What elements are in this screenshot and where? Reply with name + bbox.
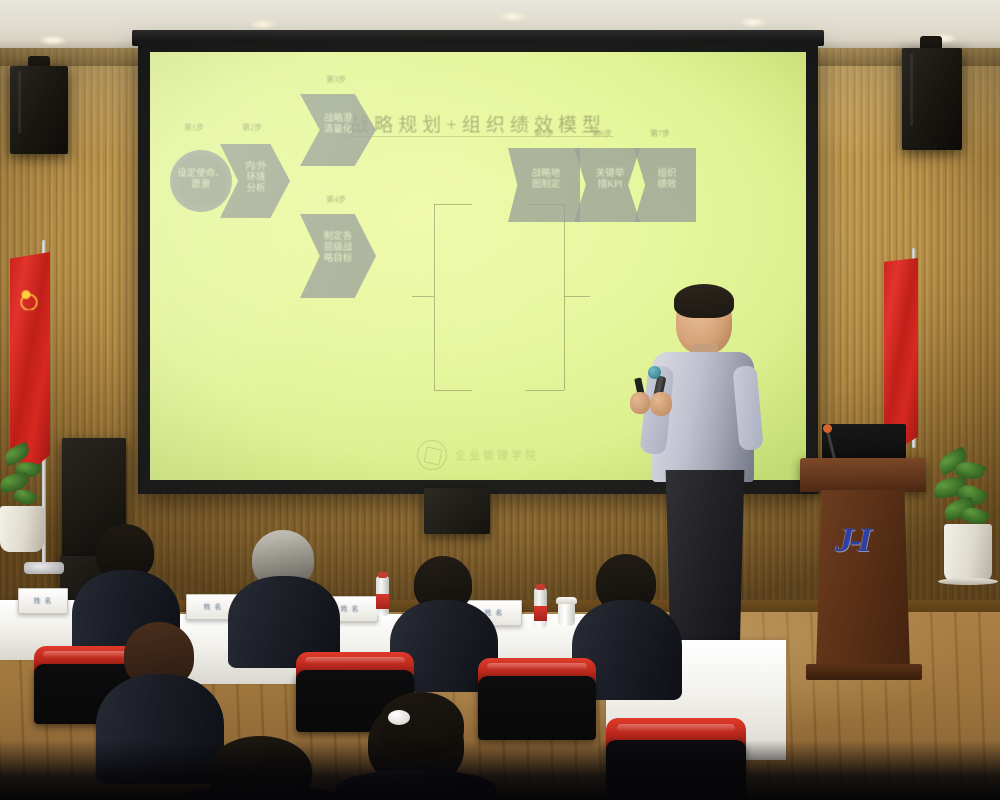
paper-cup-lid xyxy=(556,597,577,604)
node-text-step2: 内/外 环境 分析 xyxy=(228,162,284,195)
flag-emblem-hammer-sickle-icon xyxy=(18,288,38,310)
plant-pot-left xyxy=(0,506,44,552)
node-text-step4: 制定各 层级战 略目标 xyxy=(308,232,368,265)
flag-right xyxy=(884,258,918,448)
connector-trunk xyxy=(412,296,434,297)
bottle-label xyxy=(534,606,547,621)
connector-right-branch-bottom xyxy=(526,390,564,391)
presenter-mic-hand xyxy=(650,392,672,416)
speaker-stage-center xyxy=(424,488,490,534)
node-text-step6: 关键举 措KPI xyxy=(582,169,638,191)
bottle-cap xyxy=(536,584,545,590)
connector-branch-top xyxy=(434,204,472,205)
downlight xyxy=(740,18,766,27)
podium-top xyxy=(800,458,926,492)
step-label-3: 第3步 xyxy=(326,74,346,85)
flag-left xyxy=(10,252,50,472)
presenter-microphone-head xyxy=(648,366,661,379)
step-label-4: 第4步 xyxy=(326,194,346,205)
plant-saucer-right xyxy=(938,578,998,585)
presenter-clicker-hand xyxy=(630,392,650,414)
step-label-1: 第1步 xyxy=(184,122,204,133)
downlight xyxy=(500,12,526,21)
downlight xyxy=(250,20,276,29)
institution-seal-icon xyxy=(417,440,447,470)
podium-base xyxy=(806,664,922,680)
plant-pot-right xyxy=(944,524,992,582)
presenter-hair xyxy=(674,284,734,318)
paper-cup xyxy=(558,602,575,626)
step-label-6: 第6步 xyxy=(592,128,612,139)
chair[interactable] xyxy=(478,676,596,740)
flag-base-left xyxy=(24,562,64,574)
foreground-shadow xyxy=(0,740,1000,800)
node-text-step7: 组织 绩效 xyxy=(640,169,694,191)
podium-body xyxy=(816,490,910,670)
watermark-text: 企业管理学院 xyxy=(455,447,539,463)
hair-accessory xyxy=(388,710,410,725)
bottle-label xyxy=(376,594,389,609)
step-label-7: 第7步 xyxy=(650,128,670,139)
connector-left-vertical xyxy=(434,204,435,390)
connector-right-vertical xyxy=(564,204,565,390)
connector-rejoin-top xyxy=(434,204,435,205)
connector-branch-bottom xyxy=(434,390,472,391)
conference-hall-scene: 战略规划+组织绩效模型 第1步 设定使命、 愿景 第2步 内/外 xyxy=(0,0,1000,800)
step-label-2: 第2步 xyxy=(242,122,262,133)
podium-microphone-head xyxy=(823,424,832,433)
step-label-5: 第5步 xyxy=(534,128,554,139)
node-text-step1: 设定使命、 愿景 xyxy=(170,169,232,191)
placard-text: 姓 名 xyxy=(19,596,67,606)
name-placard: 姓 名 xyxy=(18,588,68,614)
speaker-left-wall xyxy=(10,66,68,154)
bottle-cap xyxy=(378,572,387,578)
connector-to-stage5 xyxy=(564,296,590,297)
node-text-step3: 战略澄 清量化 xyxy=(308,114,368,136)
node-text-step5: 战略地 图制定 xyxy=(516,169,576,191)
speaker-right-wall xyxy=(902,48,962,150)
